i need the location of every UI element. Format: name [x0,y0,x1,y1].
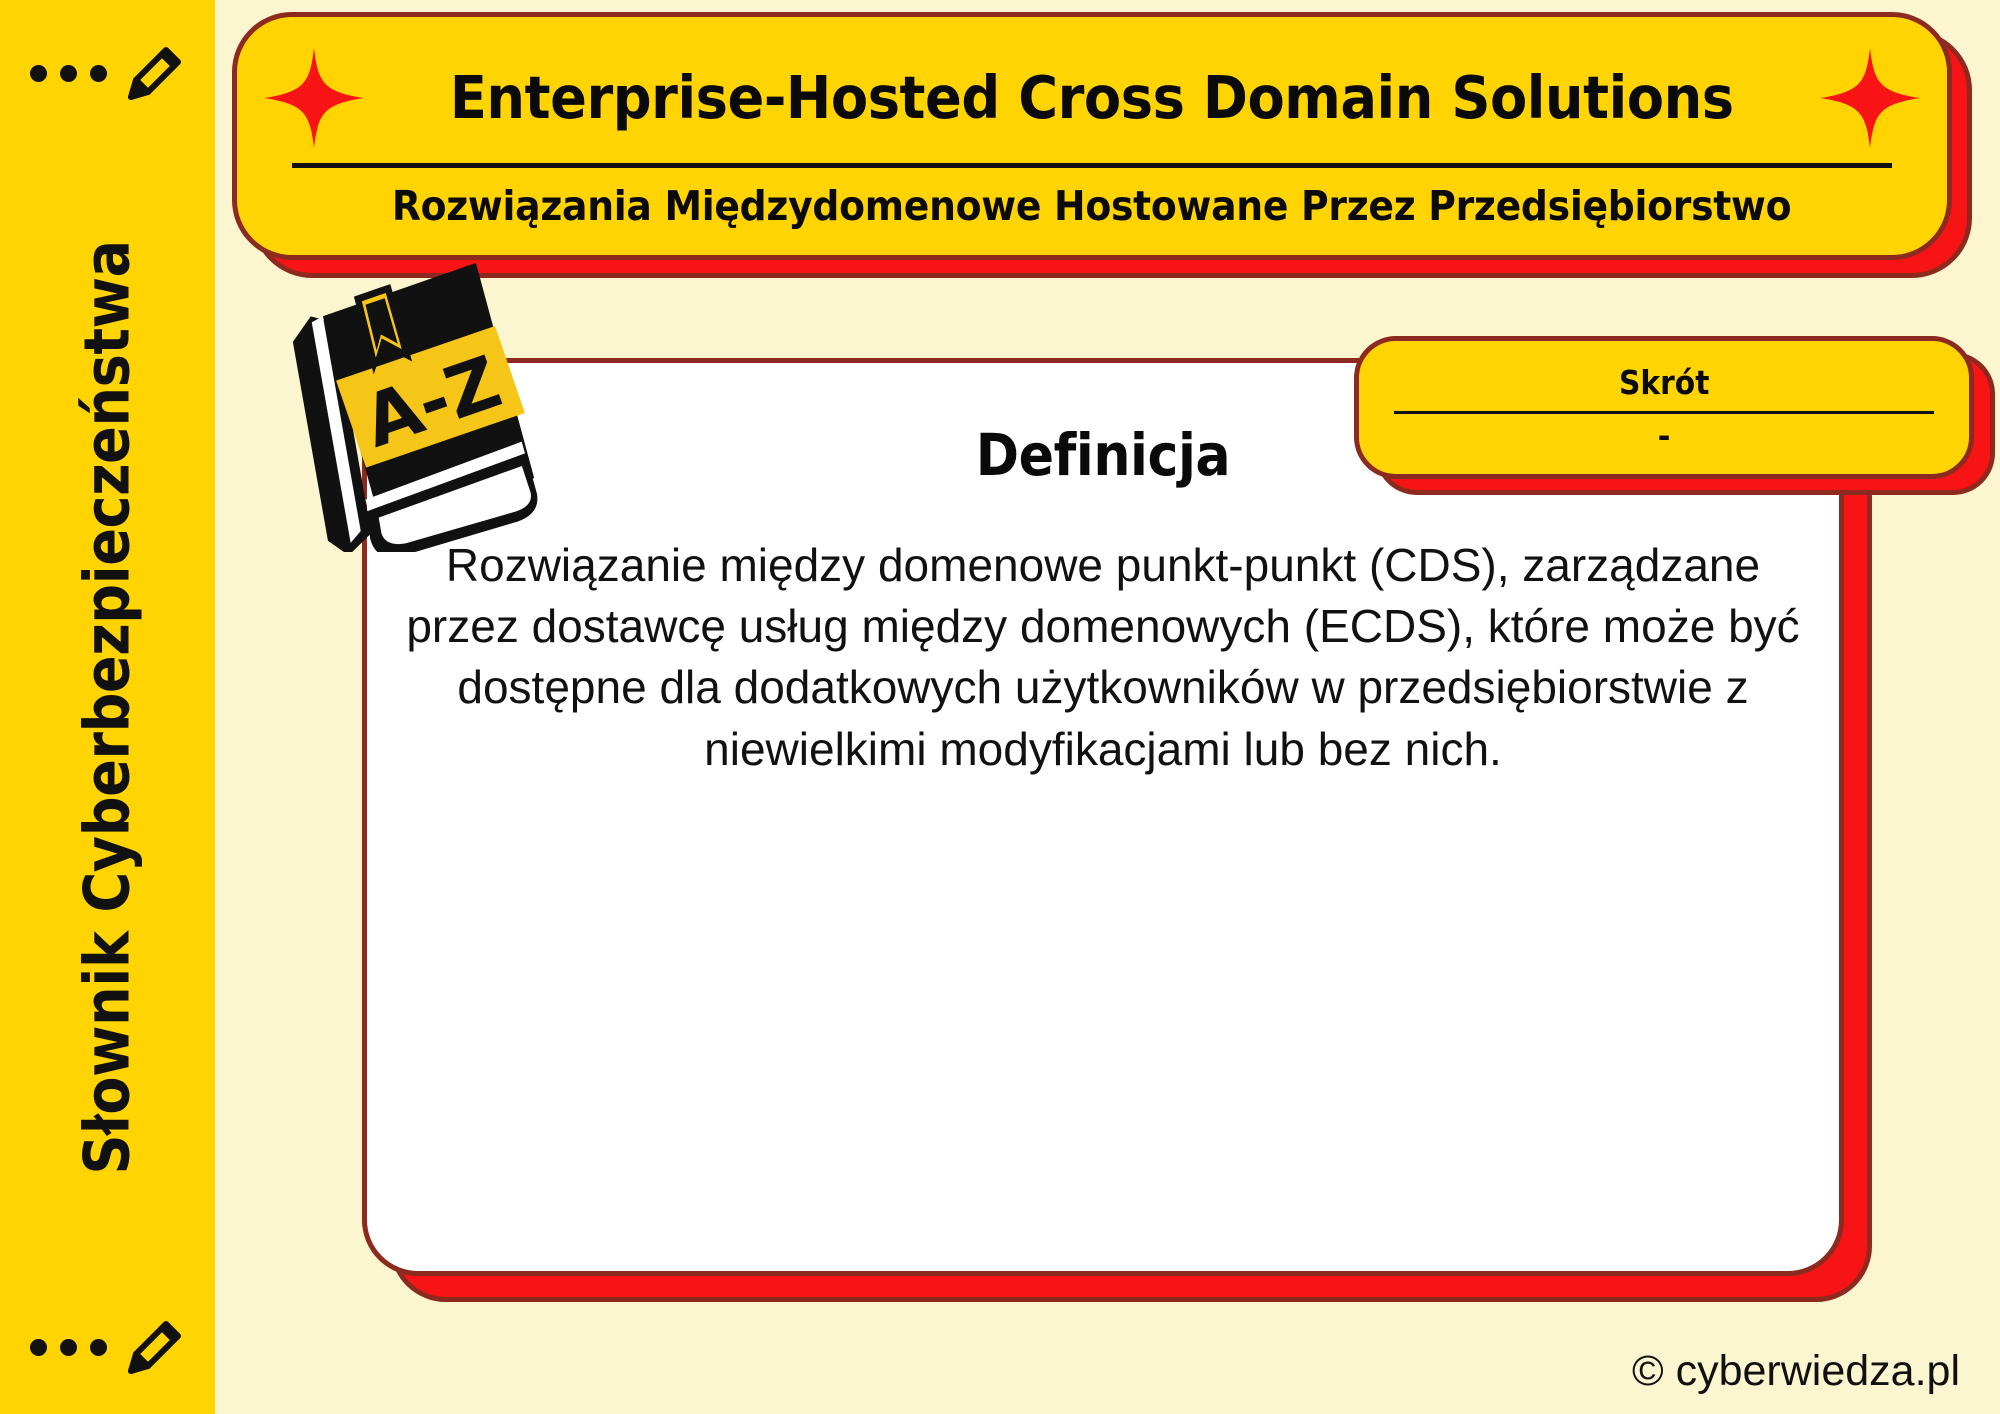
pencil-icon [123,41,187,105]
abbreviation-value: - [1658,420,1671,454]
header-banner: Enterprise-Hosted Cross Domain Solutions… [232,12,1952,260]
ellipsis-icon [30,1339,107,1356]
header-title-row: Enterprise-Hosted Cross Domain Solutions [237,43,1947,153]
sidebar-title: Słownik Cyberbezpieczeństwa [0,0,215,1414]
definition-text: Rozwiązanie między domenowe punkt-punkt … [403,535,1803,780]
abbreviation-label: Skrót [1619,363,1709,402]
abbreviation-divider [1394,411,1934,414]
header-divider [292,163,1892,168]
sidebar-title-text: Słownik Cyberbezpieczeństwa [71,240,144,1174]
glossary-card: Słownik Cyberbezpieczeństwa Enterprise-H… [0,0,2000,1414]
sidebar-top-marker [30,28,190,118]
page-subtitle: Rozwiązania Międzydomenowe Hostowane Prz… [392,182,1791,230]
sidebar: Słownik Cyberbezpieczeństwa [0,0,215,1414]
footer-copyright: © cyberwiedza.pl [1632,1347,1960,1396]
sparkle-icon [262,43,366,153]
book-az-icon: A-Z [288,262,538,552]
sidebar-bottom-marker [30,1302,190,1392]
ellipsis-icon [30,65,107,82]
definition-panel: Definicja Rozwiązanie między domenowe pu… [362,358,1844,1276]
abbreviation-box: Skrót - [1354,336,1974,479]
page-title: Enterprise-Hosted Cross Domain Solutions [450,63,1734,132]
pencil-icon [123,1315,187,1379]
sparkle-icon [1818,43,1922,153]
